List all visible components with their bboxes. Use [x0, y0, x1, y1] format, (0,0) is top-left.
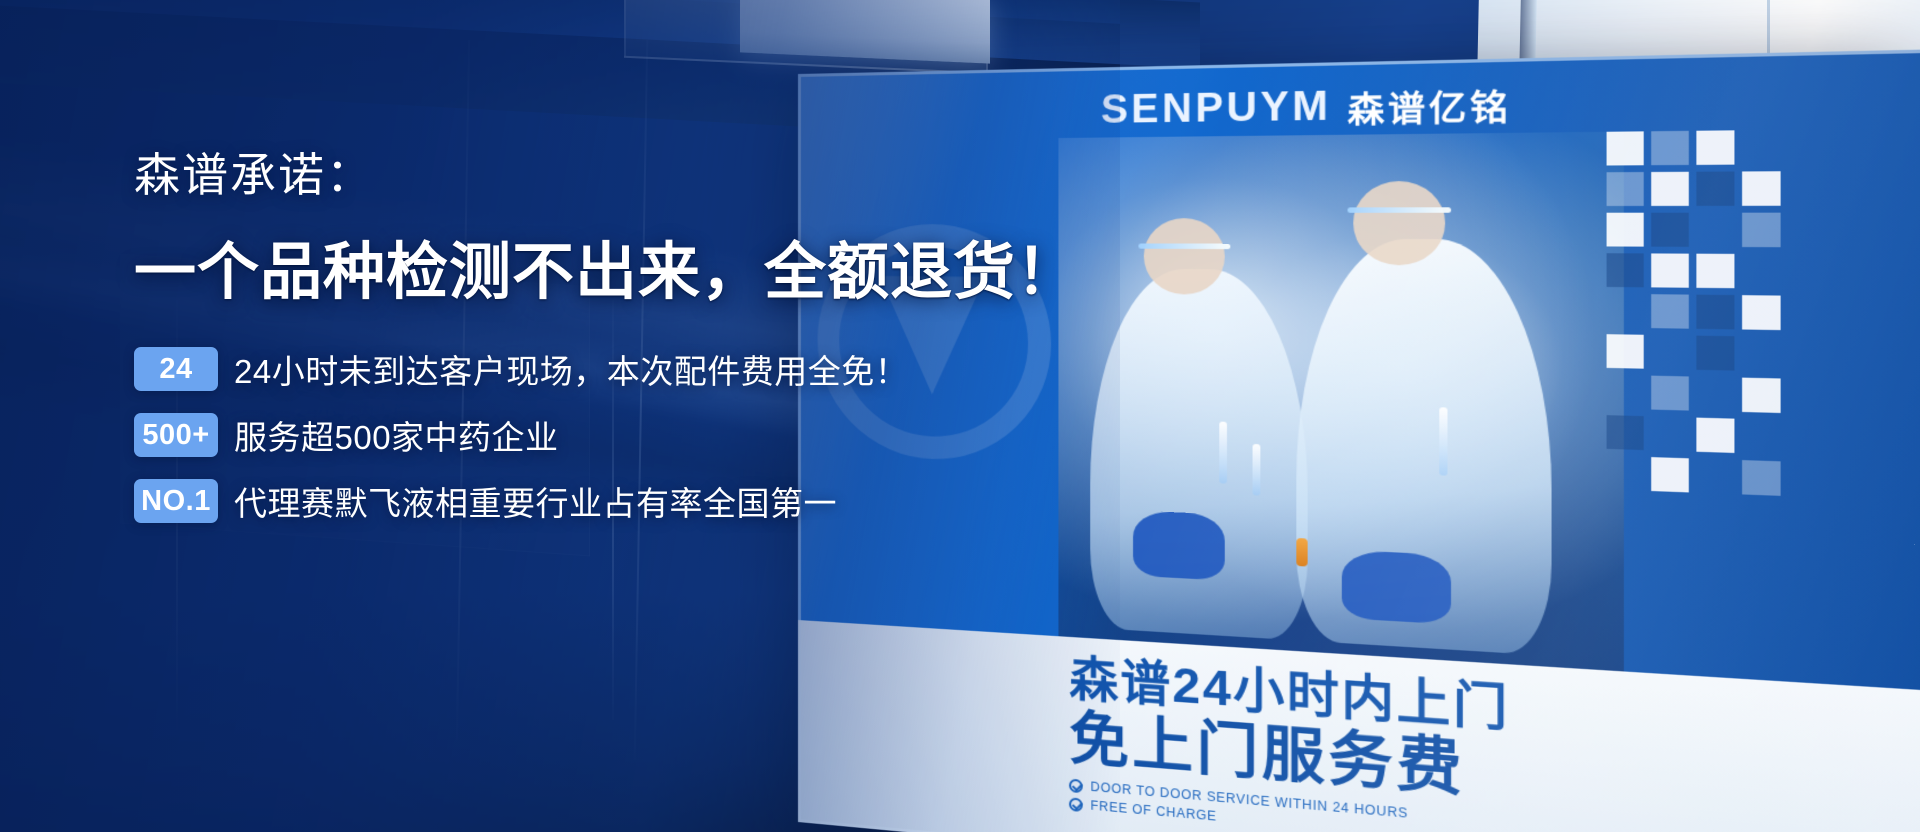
- scientist-head: [1353, 181, 1445, 265]
- bullet-text-3: 代理赛默飞液相重要行业占有率全国第一: [234, 477, 837, 525]
- scientist-head: [1143, 218, 1224, 295]
- check-circle-icon: [1069, 778, 1083, 793]
- list-item: 24 24小时未到达客户现场，本次配件费用全免！: [134, 345, 1144, 393]
- logo-text-en: SENPUYM: [1101, 84, 1332, 133]
- list-item: NO.1 代理赛默飞液相重要行业占有率全国第一: [134, 477, 1144, 525]
- test-tube-icon: [1252, 443, 1260, 495]
- check-circle-icon: [1069, 797, 1083, 812]
- checkerboard-pattern: [1606, 129, 1885, 670]
- logo-text-cn: 森谱亿铭: [1347, 79, 1511, 132]
- safety-goggles-icon: [1138, 243, 1230, 249]
- promise-eyebrow: 森谱承诺：: [134, 150, 1144, 201]
- lab-glove: [1133, 510, 1225, 580]
- poster-logo: SENPUYM 森谱亿铭: [1101, 79, 1512, 135]
- bullet-list: 24 24小时未到达客户现场，本次配件费用全免！ 500+ 服务超500家中药企…: [134, 345, 1144, 525]
- list-item: 500+ 服务超500家中药企业: [134, 411, 1144, 459]
- badge-24: 24: [134, 347, 218, 391]
- badge-no1: NO.1: [134, 479, 218, 523]
- marketing-copy-block: 森谱承诺： 一个品种检测不出来，全额退货！ 24 24小时未到达客户现场，本次配…: [134, 150, 1144, 543]
- lab-glove: [1342, 550, 1451, 624]
- test-tube-icon: [1439, 408, 1447, 476]
- badge-500plus: 500+: [134, 413, 218, 457]
- test-tube-icon: [1219, 422, 1227, 484]
- bullet-text-1: 24小时未到达客户现场，本次配件费用全免！: [234, 345, 908, 393]
- safety-goggles-icon: [1347, 208, 1451, 214]
- main-headline: 一个品种检测不出来，全额退货！: [134, 221, 1144, 311]
- reagent-vial-icon: [1297, 538, 1308, 567]
- bullet-text-2: 服务超500家中药企业: [234, 411, 559, 459]
